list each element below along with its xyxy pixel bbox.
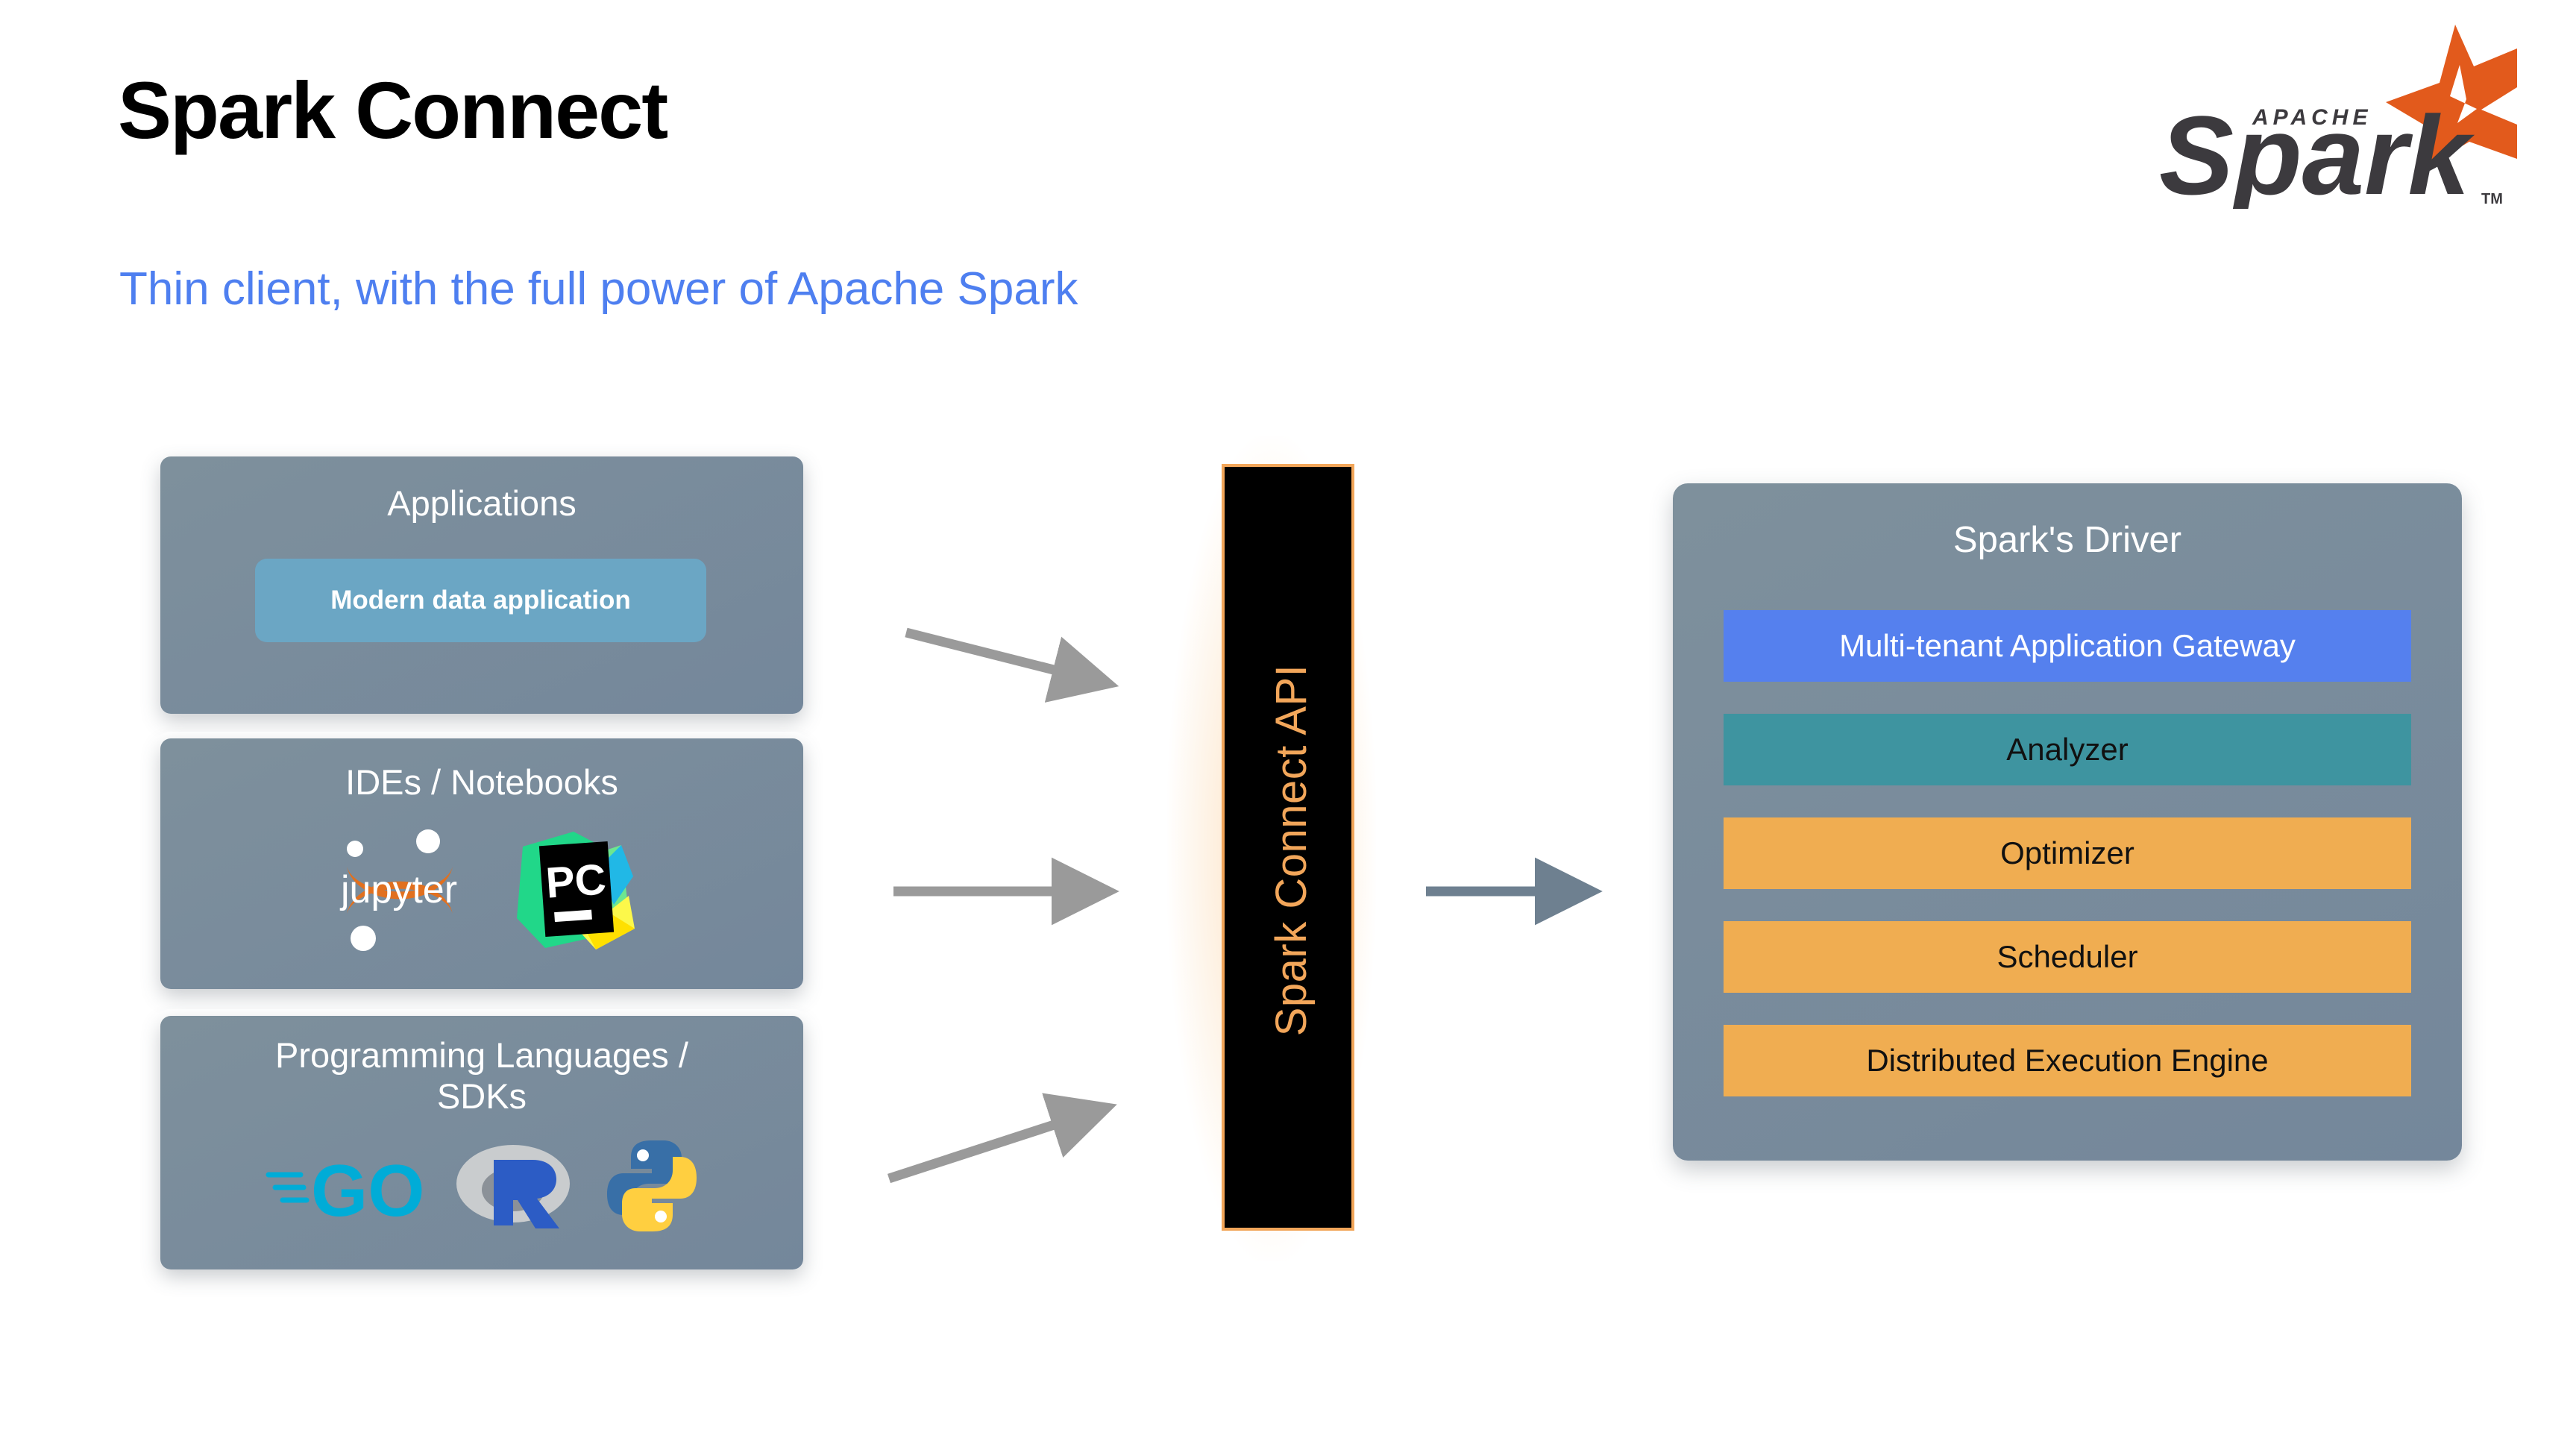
language-logo-row: GO xyxy=(160,1131,803,1243)
page-title: Spark Connect xyxy=(118,63,667,157)
apache-spark-logo: APACHE Spark TM xyxy=(2129,19,2517,209)
driver-bar-scheduler[interactable]: Scheduler xyxy=(1724,921,2411,993)
driver-panel-title: Spark's Driver xyxy=(1673,519,2462,561)
client-box-title: Programming Languages / SDKs xyxy=(160,1035,803,1117)
client-box-title-line1: Programming Languages / xyxy=(275,1035,688,1075)
client-box-programming-languages[interactable]: Programming Languages / SDKs GO xyxy=(160,1016,803,1269)
client-box-title: IDEs / Notebooks xyxy=(160,762,803,803)
go-logo-icon: GO xyxy=(265,1141,425,1234)
driver-bar-multi-tenant-application-gateway[interactable]: Multi-tenant Application Gateway xyxy=(1724,610,2411,682)
client-box-title-line2: SDKs xyxy=(437,1076,527,1116)
r-logo-icon xyxy=(455,1137,574,1238)
arrow-applications-to-api xyxy=(906,633,1104,682)
client-box-ides-notebooks[interactable]: IDEs / Notebooks jupyter PC xyxy=(160,738,803,989)
client-box-applications[interactable]: Applications Modern data application xyxy=(160,456,803,714)
modern-data-application-chip[interactable]: Modern data application xyxy=(255,559,706,642)
spark-logo-svg: APACHE Spark TM xyxy=(2129,19,2517,209)
client-box-title: Applications xyxy=(160,483,803,524)
jupyter-wordmark: jupyter xyxy=(339,868,456,911)
logo-trademark-text: TM xyxy=(2481,191,2503,207)
page-subtitle: Thin client, with the full power of Apac… xyxy=(119,263,1078,316)
go-wordmark: GO xyxy=(311,1149,424,1231)
pycharm-logo-icon: PC xyxy=(509,824,640,958)
spark-connect-api-label: Spark Connect API xyxy=(1225,467,1357,1234)
ide-logo-row: jupyter PC xyxy=(160,822,803,960)
spark-connect-api-bar[interactable]: Spark Connect API xyxy=(1222,464,1354,1231)
driver-bar-optimizer[interactable]: Optimizer xyxy=(1724,817,2411,889)
driver-bar-distributed-execution-engine[interactable]: Distributed Execution Engine xyxy=(1724,1025,2411,1096)
pycharm-wordmark: PC xyxy=(544,855,607,907)
logo-spark-text: Spark xyxy=(2159,92,2475,209)
python-logo-icon xyxy=(604,1137,700,1238)
spark-driver-panel[interactable]: Spark's Driver Multi-tenant Application … xyxy=(1673,483,2462,1161)
driver-bar-analyzer[interactable]: Analyzer xyxy=(1724,714,2411,785)
jupyter-logo-icon: jupyter xyxy=(324,820,474,962)
arrow-languages-to-api xyxy=(889,1109,1102,1178)
